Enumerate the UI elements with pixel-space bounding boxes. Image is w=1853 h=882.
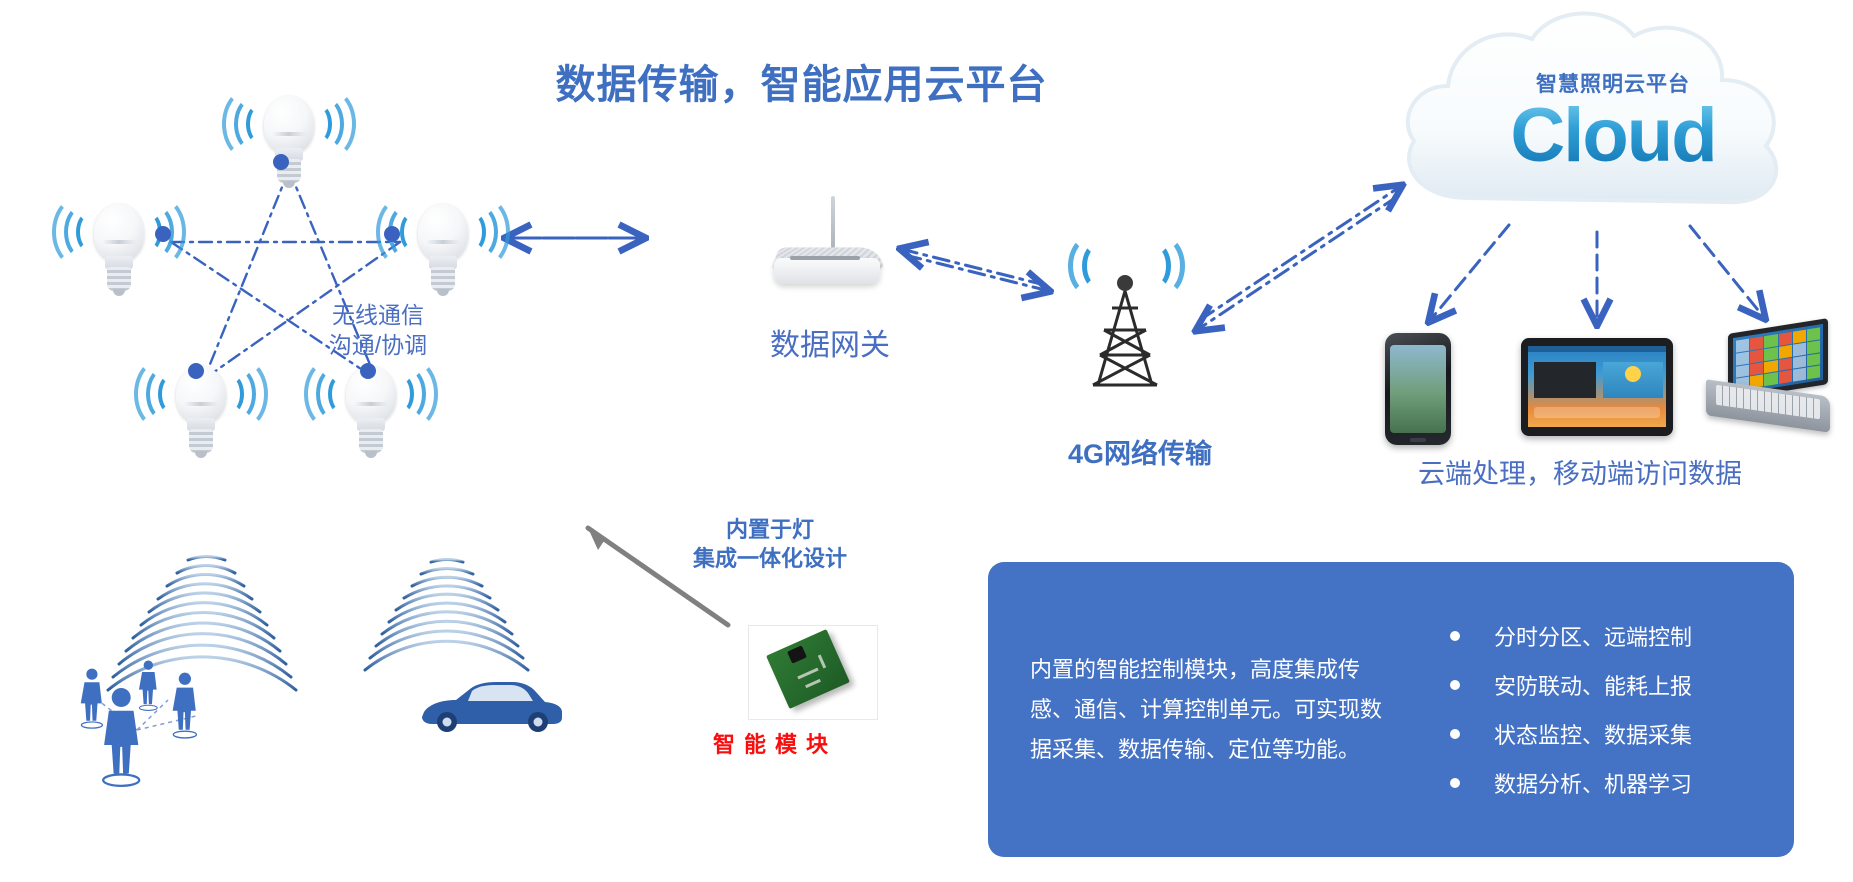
tablet-icon <box>1521 338 1673 436</box>
tablet-card <box>1534 362 1596 398</box>
bulb-base <box>359 429 383 453</box>
cloud-platform: 智慧照明云平台 Cloud <box>1398 18 1828 238</box>
light-cone-icon-2 <box>365 560 528 670</box>
mesh-label: 无线通信 沟通/协调 <box>268 300 488 360</box>
bulb-brand <box>272 132 306 136</box>
cloud-label-en: Cloud <box>1398 92 1828 179</box>
module-callout: 内置于灯 集成一体化设计 <box>610 515 930 573</box>
pcb-board <box>766 629 850 709</box>
module-caption: 智能模块 <box>640 727 910 759</box>
mesh-label-line1: 无线通信 <box>268 300 488 330</box>
bullet-icon <box>1450 680 1460 690</box>
module-callout-line1: 内置于灯 <box>610 515 930 544</box>
list-item: 状态监控、数据采集 <box>1450 718 1692 750</box>
link-cloud-devices <box>1432 225 1762 320</box>
bulb-glass <box>94 204 144 262</box>
devices-label: 云端处理，移动端访问数据 <box>1330 452 1830 491</box>
bulb-base <box>107 267 131 291</box>
bulb-base <box>189 429 213 453</box>
panel-feature-list: 分时分区、远端控制 安防联动、能耗上报 状态监控、数据采集 数据分析、机器学习 <box>1450 603 1692 816</box>
smartphone-icon <box>1385 333 1451 445</box>
bulb-left <box>58 196 178 326</box>
bulb-tip <box>283 181 295 188</box>
bulb-tip <box>113 289 125 296</box>
tablet-dock <box>1534 407 1660 418</box>
phone-screen <box>1390 345 1446 433</box>
tablet-statusbar <box>1528 346 1666 352</box>
router-antenna <box>831 196 835 248</box>
list-item-label: 分时分区、远端控制 <box>1494 620 1692 652</box>
bullet-icon <box>1450 631 1460 641</box>
mesh-node-dot <box>273 154 289 170</box>
mesh-node-dot <box>360 363 376 379</box>
list-item-label: 数据分析、机器学习 <box>1494 767 1692 799</box>
signal-wave-icon <box>1068 235 1114 297</box>
module-callout-line2: 集成一体化设计 <box>610 544 930 573</box>
bulb-brand <box>184 402 218 406</box>
mesh-node-dot <box>188 363 204 379</box>
car-icon <box>422 682 562 732</box>
bullet-icon <box>1450 729 1460 739</box>
link-gateway-tower <box>905 250 1045 290</box>
diagram-canvas: 数据传输，智能应用云平台 <box>0 0 1853 882</box>
bulb-glass <box>264 96 314 154</box>
router-icon <box>768 196 888 296</box>
weather-sun-icon <box>1625 366 1641 382</box>
link-tower-cloud <box>1200 188 1398 328</box>
info-panel: 内置的智能控制模块，高度集成传感、通信、计算控制单元。可实现数据采集、数据传输、… <box>988 562 1794 857</box>
tower-label: 4G网络传输 <box>950 432 1330 471</box>
laptop-icon <box>1706 326 1830 434</box>
light-cone-icon <box>108 556 296 690</box>
mesh-label-line2: 沟通/协调 <box>268 330 488 360</box>
bulb-top <box>228 88 348 218</box>
mesh-node-dot <box>384 226 400 242</box>
mesh-node-dot <box>155 226 171 242</box>
pcb-module-icon <box>748 625 878 720</box>
list-item-label: 安防联动、能耗上报 <box>1494 669 1692 701</box>
list-item: 分时分区、远端控制 <box>1450 620 1692 652</box>
panel-paragraph: 内置的智能控制模块，高度集成传感、通信、计算控制单元。可实现数据采集、数据传输、… <box>1030 650 1400 770</box>
list-item-label: 状态监控、数据采集 <box>1494 718 1692 750</box>
bulb-base <box>431 267 455 291</box>
signal-wave-icon <box>1139 235 1185 297</box>
bulb-glass <box>418 204 468 262</box>
list-item: 数据分析、机器学习 <box>1450 767 1692 799</box>
bullet-icon <box>1450 778 1460 788</box>
bulb-tip <box>437 289 449 296</box>
cell-tower-icon <box>1070 235 1220 395</box>
gateway-label: 数据网关 <box>620 320 1040 364</box>
people-group-icon <box>81 661 197 786</box>
bulb-tip <box>195 451 207 458</box>
router-slot <box>790 256 860 260</box>
bulb-brand <box>102 240 136 244</box>
router-body <box>774 258 880 284</box>
bulb-tip <box>365 451 377 458</box>
phone-home-bar <box>1410 438 1426 442</box>
list-item: 安防联动、能耗上报 <box>1450 669 1692 701</box>
bulb-brand <box>426 240 460 244</box>
bulb-brand <box>354 402 388 406</box>
